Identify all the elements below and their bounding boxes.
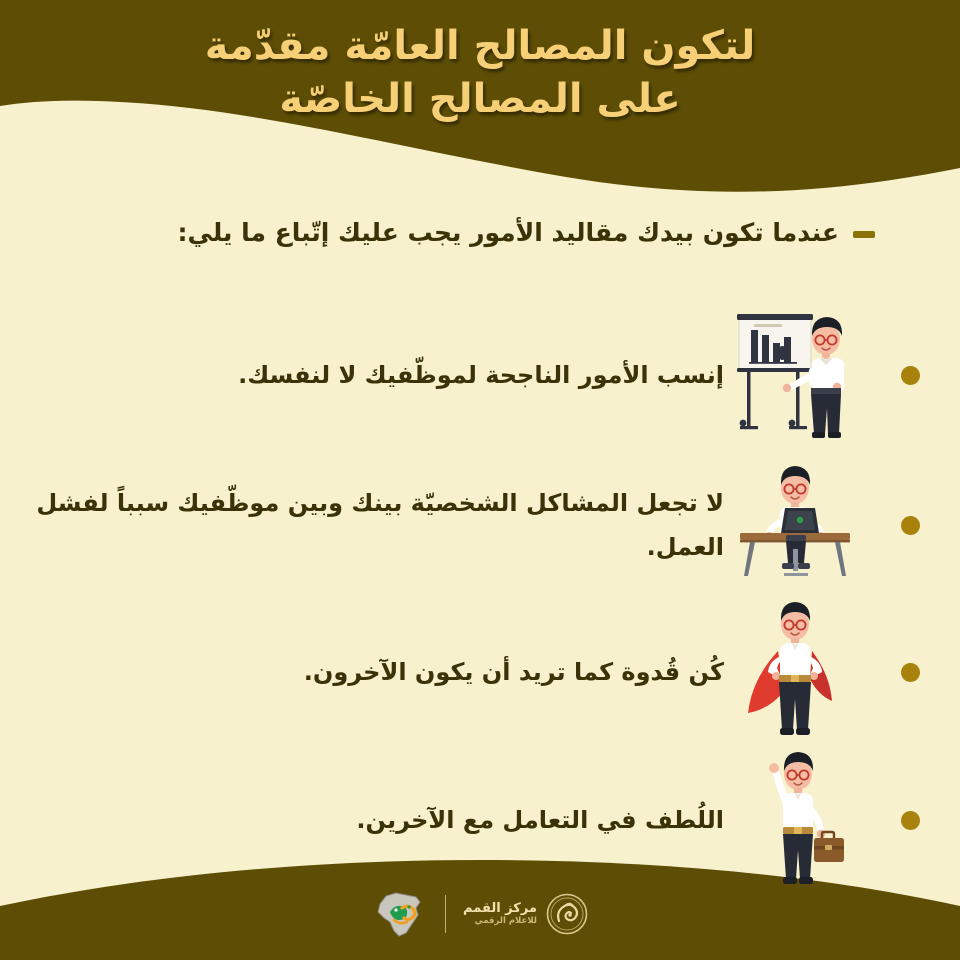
bullet-column <box>860 811 960 830</box>
bullet-dot-icon <box>901 516 920 535</box>
illustration-column <box>730 599 860 747</box>
list-item-text: لا تجعل المشاكل الشخصيّة بينك وبين موظّف… <box>20 481 724 570</box>
man-superhero-red-cape-icon <box>736 599 854 747</box>
list-item-text: اللُطف في التعامل مع الآخرين. <box>20 798 724 842</box>
infographic-poster: لتكون المصالح العامّة مقدّمة على المصالح… <box>0 0 960 960</box>
list-item: كُن قُدوة كما تريد أن يكون الآخرون. <box>0 600 960 745</box>
subheading-row: عندما تكون بيدك مقاليد الأمور يجب عليك إ… <box>65 218 875 247</box>
poster-footer: مركز القمم للاعلام الرقمي <box>0 868 960 960</box>
bullet-dot-icon <box>901 366 920 385</box>
iraq-logo-block <box>372 888 428 940</box>
bullet-column <box>860 366 960 385</box>
list-item-text: كُن قُدوة كما تريد أن يكون الآخرون. <box>20 650 724 694</box>
man-working-laptop-desk-icon <box>736 461 854 589</box>
bullet-column <box>860 663 960 682</box>
illustration-column <box>730 461 860 589</box>
text-column: اللُطف في التعامل مع الآخرين. <box>0 798 730 842</box>
iraq-map-arabic-calligraphy-icon <box>372 888 428 940</box>
text-column: لا تجعل المشاكل الشخصيّة بينك وبين موظّف… <box>0 481 730 570</box>
bullet-dot-icon <box>901 811 920 830</box>
list-item-text: إنسب الأمور الناجحة لموظّفيك لا لنفسك. <box>20 353 724 397</box>
qimam-circular-monogram-icon <box>546 893 588 935</box>
dash-marker-icon <box>853 231 875 238</box>
bullet-dot-icon <box>901 663 920 682</box>
footer-divider <box>445 895 446 933</box>
advice-list: إنسب الأمور الناجحة لموظّفيك لا لنفسك. <box>0 300 960 895</box>
brand-subtitle: للاعلام الرقمي <box>475 917 537 927</box>
man-presenting-bar-chart-whiteboard-icon <box>734 302 856 448</box>
text-column: كُن قُدوة كما تريد أن يكون الآخرون. <box>0 650 730 694</box>
illustration-column <box>730 302 860 448</box>
brand-name: مركز القمم <box>463 902 537 917</box>
brand-block: مركز القمم للاعلام الرقمي <box>463 893 588 935</box>
list-item: لا تجعل المشاكل الشخصيّة بينك وبين موظّف… <box>0 450 960 600</box>
brand-text-block: مركز القمم للاعلام الرقمي <box>463 902 537 926</box>
text-column: إنسب الأمور الناجحة لموظّفيك لا لنفسك. <box>0 353 730 397</box>
subheading-text: عندما تكون بيدك مقاليد الأمور يجب عليك إ… <box>178 218 839 247</box>
list-item: إنسب الأمور الناجحة لموظّفيك لا لنفسك. <box>0 300 960 450</box>
bullet-column <box>860 516 960 535</box>
